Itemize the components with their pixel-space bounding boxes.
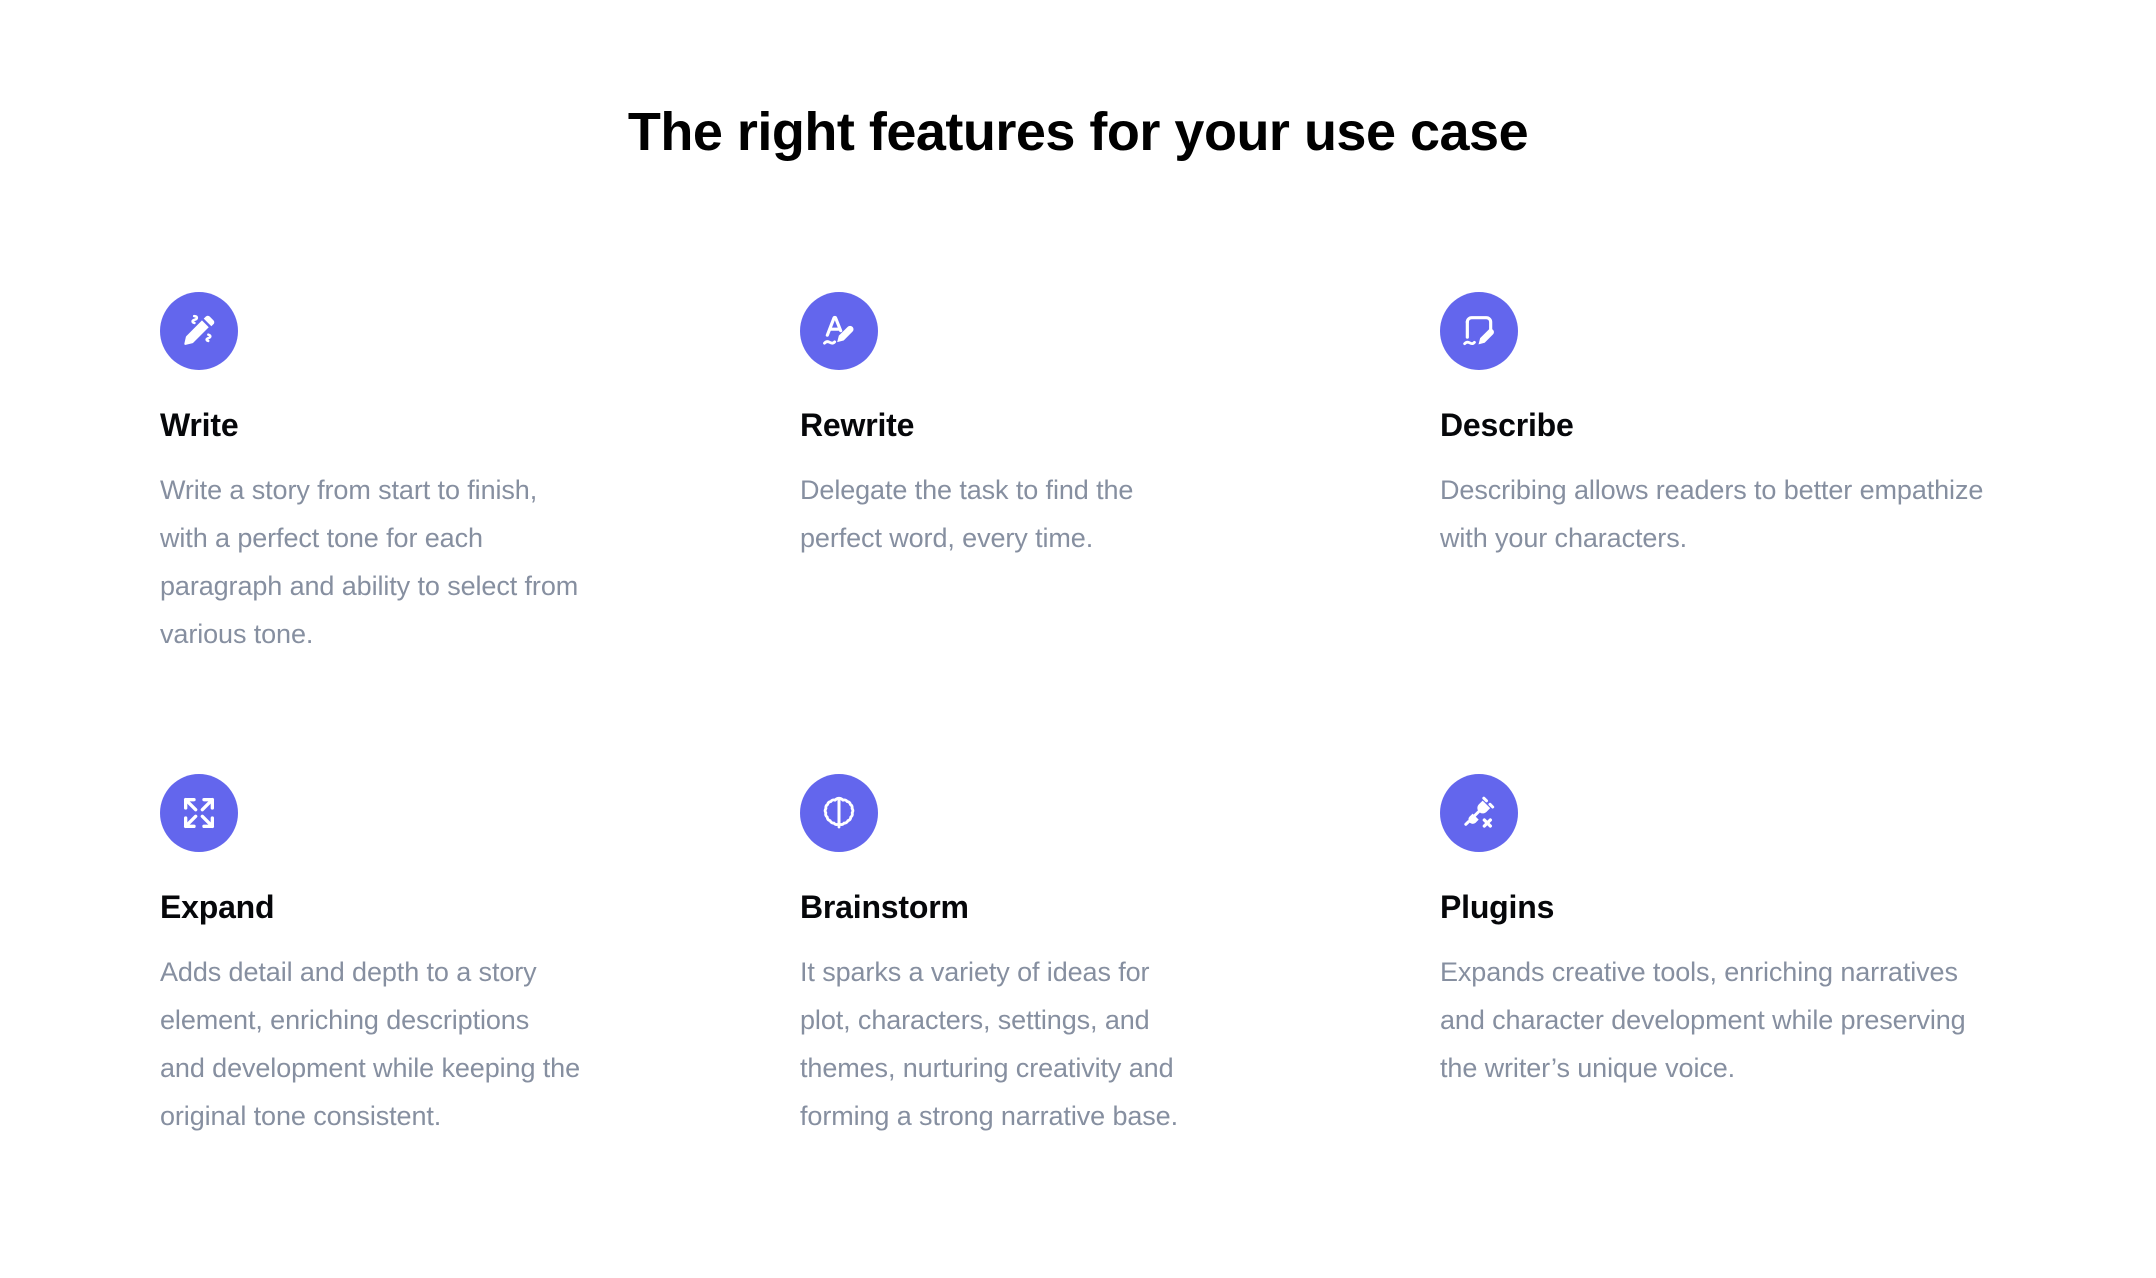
feature-title: Brainstorm xyxy=(800,888,1380,926)
brain-icon xyxy=(819,793,859,833)
feature-title: Write xyxy=(160,406,740,444)
feature-title: Expand xyxy=(160,888,740,926)
feature-icon-badge xyxy=(1440,774,1518,852)
page-title: The right features for your use case xyxy=(0,100,2156,164)
feature-icon-badge xyxy=(800,774,878,852)
features-section: The right features for your use case Wri… xyxy=(0,0,2156,1278)
feature-card-brainstorm[interactable]: Brainstorm It sparks a variety of ideas … xyxy=(800,774,1380,1140)
feature-description: It sparks a variety of ideas for plot, c… xyxy=(800,948,1200,1140)
feature-grid: Write Write a story from start to finish… xyxy=(160,292,2080,1140)
feature-icon-badge xyxy=(160,292,238,370)
letter-a-pen-icon xyxy=(819,311,859,351)
feature-icon-badge xyxy=(1440,292,1518,370)
feature-card-rewrite[interactable]: Rewrite Delegate the task to find the pe… xyxy=(800,292,1380,658)
feature-card-plugins[interactable]: Plugins Expands creative tools, enrichin… xyxy=(1440,774,2020,1140)
magic-pencil-icon xyxy=(179,311,219,351)
feature-icon-badge xyxy=(800,292,878,370)
feature-card-expand[interactable]: Expand Adds detail and depth to a story … xyxy=(160,774,740,1140)
feature-title: Rewrite xyxy=(800,406,1380,444)
expand-arrows-icon xyxy=(179,793,219,833)
note-pen-icon xyxy=(1459,311,1499,351)
feature-description: Write a story from start to finish, with… xyxy=(160,466,590,658)
plug-connector-icon xyxy=(1459,793,1499,833)
feature-card-write[interactable]: Write Write a story from start to finish… xyxy=(160,292,740,658)
feature-description: Adds detail and depth to a story element… xyxy=(160,948,580,1140)
feature-icon-badge xyxy=(160,774,238,852)
feature-description: Delegate the task to find the perfect wo… xyxy=(800,466,1220,562)
feature-title: Plugins xyxy=(1440,888,2020,926)
feature-title: Describe xyxy=(1440,406,2020,444)
feature-description: Describing allows readers to better empa… xyxy=(1440,466,1985,562)
feature-card-describe[interactable]: Describe Describing allows readers to be… xyxy=(1440,292,2020,658)
feature-description: Expands creative tools, enriching narrat… xyxy=(1440,948,1970,1092)
